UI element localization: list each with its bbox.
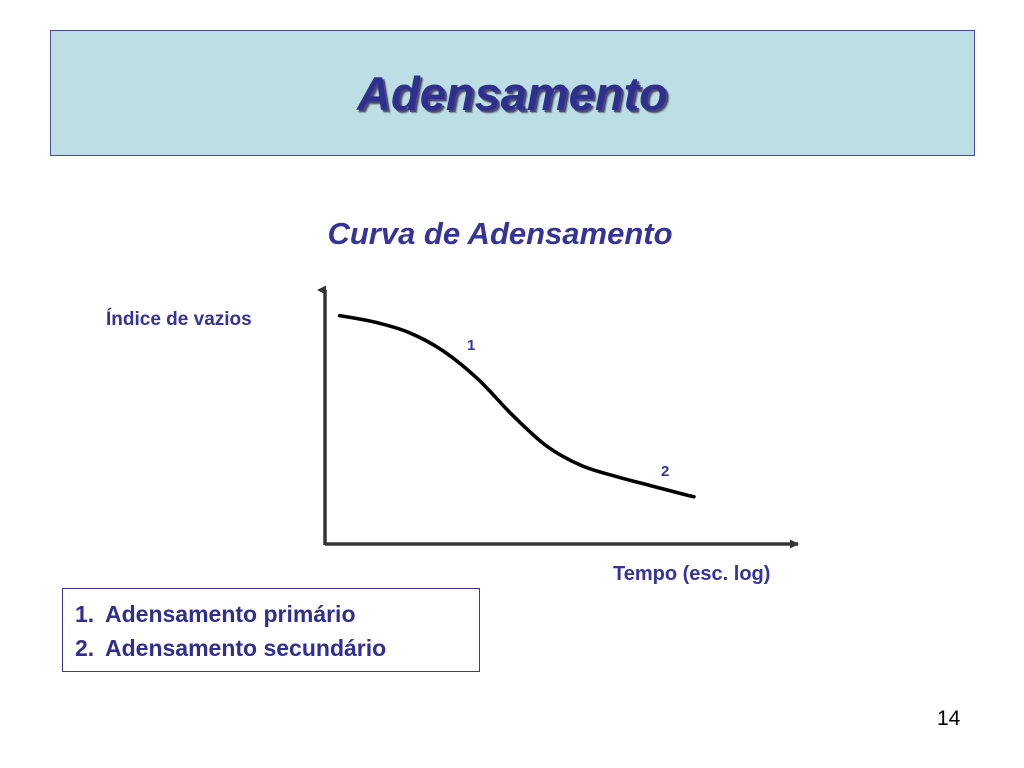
legend-item-1-number: 1.	[75, 597, 105, 631]
legend-box: 1. Adensamento primário 2. Adensamento s…	[62, 588, 480, 672]
consolidation-curve	[340, 316, 694, 497]
chart-title: Curva de Adensamento	[0, 216, 1024, 252]
consolidation-chart	[300, 275, 830, 565]
page-title: Adensamento	[51, 31, 974, 155]
chart-title-text: Curva de Adensamento	[327, 216, 672, 252]
title-banner: Adensamento	[50, 30, 975, 156]
y-axis-label: Índice de vazios	[106, 309, 252, 331]
legend-item-2-label: Adensamento secundário	[105, 631, 386, 665]
legend-item-1-label: Adensamento primário	[105, 597, 356, 631]
page-number: 14	[937, 707, 960, 731]
curve-marker-2: 2	[661, 463, 669, 480]
chart-svg	[300, 275, 830, 565]
legend-item-1: 1. Adensamento primário	[75, 597, 479, 631]
legend-item-2-number: 2.	[75, 631, 105, 665]
x-axis-label: Tempo (esc. log)	[613, 563, 770, 586]
curve-marker-1: 1	[467, 337, 475, 354]
legend-item-2: 2. Adensamento secundário	[75, 631, 479, 665]
slide: Adensamento Curva de Adensamento 1 2	[0, 0, 1024, 768]
